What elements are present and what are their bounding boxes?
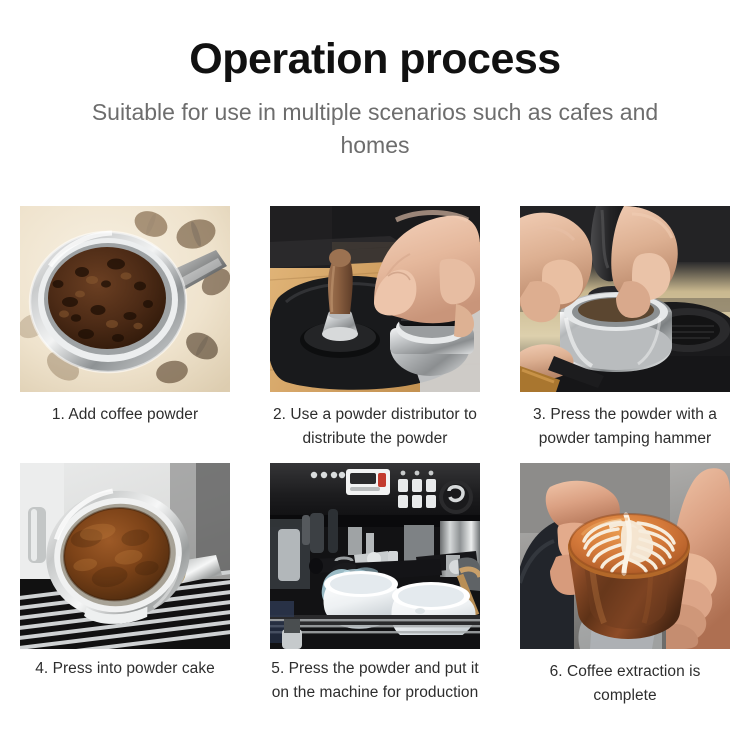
step-caption-1: 1. Add coffee powder: [19, 403, 231, 427]
portafilter-with-coffee-grounds-photo: [20, 206, 230, 392]
step-card-2: 2. Use a powder distributor to distribut…: [250, 206, 500, 450]
steps-row-top: 1. Add coffee powder: [0, 206, 750, 450]
operation-process-infographic: Operation process Suitable for use in mu…: [0, 0, 750, 750]
step-card-3: 3. Press the powder with a powder tampin…: [500, 206, 750, 450]
steps-grid: 1. Add coffee powder: [0, 206, 750, 707]
tamped-coffee-puck-photo: [20, 463, 230, 649]
hand-using-powder-distributor-photo: [270, 206, 480, 392]
step-caption-4: 4. Press into powder cake: [19, 657, 231, 681]
espresso-machine-brewing-photo: [270, 463, 480, 649]
steps-row-bottom: 4. Press into powder cake: [0, 463, 750, 707]
page-title: Operation process: [0, 36, 750, 82]
step-card-4: 4. Press into powder cake: [0, 463, 250, 681]
header-block: Operation process Suitable for use in mu…: [0, 0, 750, 162]
step-card-5: 5. Press the powder and put it on the ma…: [250, 463, 500, 704]
step-caption-3: 3. Press the powder with a powder tampin…: [519, 403, 731, 450]
page-subtitle: Suitable for use in multiple scenarios s…: [85, 96, 665, 161]
step-caption-2: 2. Use a powder distributor to distribut…: [269, 403, 481, 450]
step-caption-5: 5. Press the powder and put it on the ma…: [269, 657, 481, 704]
hands-tamping-powder-photo: [520, 206, 730, 392]
latte-art-cup-in-hands-photo: [520, 463, 730, 649]
step-caption-6: 6. Coffee extraction is complete: [519, 660, 731, 707]
step-card-6: 6. Coffee extraction is complete: [500, 463, 750, 707]
step-card-1: 1. Add coffee powder: [0, 206, 250, 427]
